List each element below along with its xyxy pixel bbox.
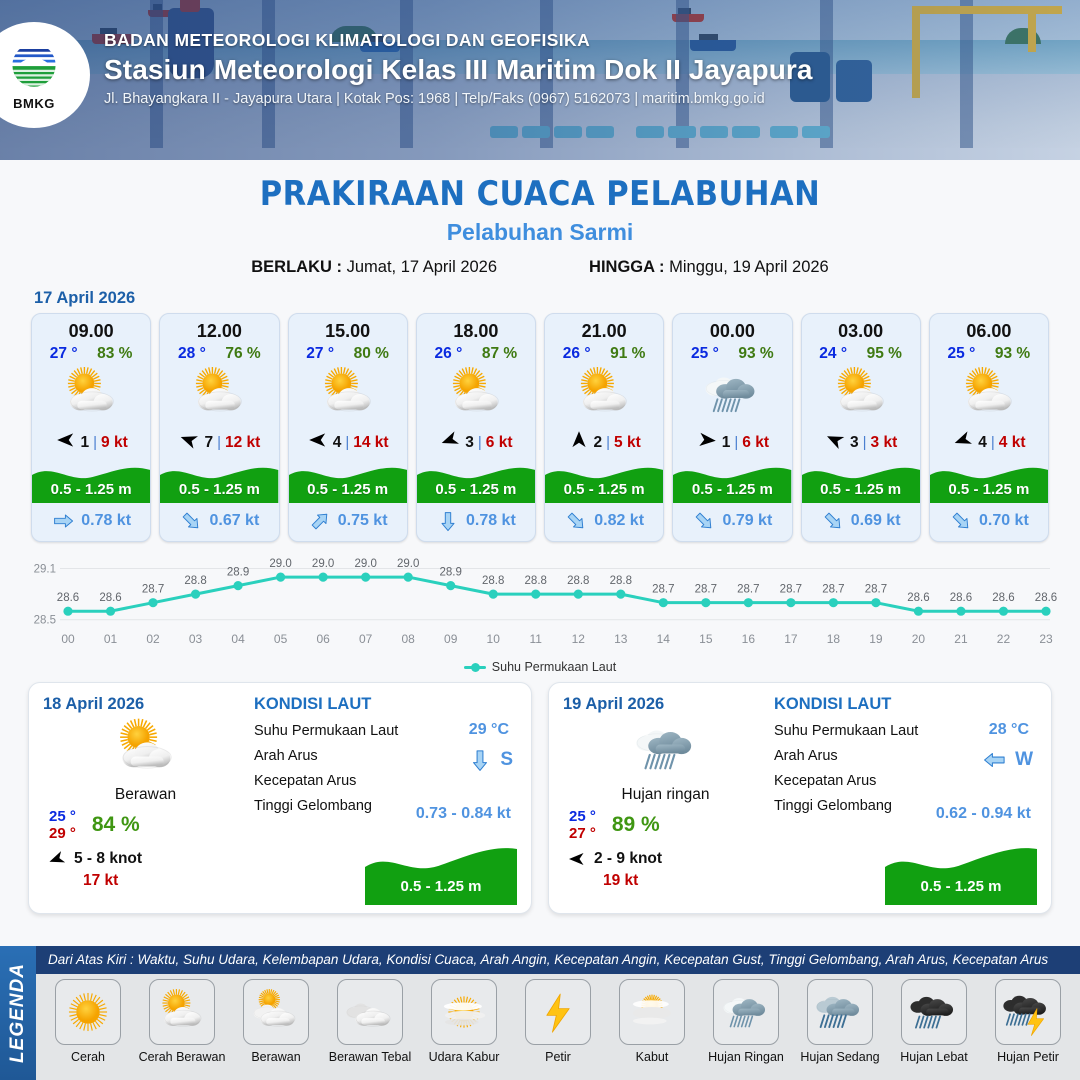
hujan-sedang-icon [812, 984, 868, 1040]
wind-direction-icon [949, 426, 977, 454]
legend-item: Hujan Petir [984, 979, 1072, 1064]
legend-item-label: Hujan Petir [997, 1050, 1059, 1064]
legend-item: Hujan Ringan [702, 979, 790, 1064]
cerah-berawan-icon [154, 984, 210, 1040]
svg-text:28.6: 28.6 [1035, 592, 1057, 604]
wave-height-band: 0.5 - 1.25 m [417, 461, 535, 503]
valid-from-label: BERLAKU : [251, 258, 342, 276]
cerah-berawan-icon [443, 361, 509, 427]
page-title: PRAKIRAAN CUACA PELABUHAN [0, 174, 1080, 214]
svg-text:29.1: 29.1 [34, 564, 56, 576]
current-speed: 0.78 kt [466, 512, 516, 530]
forecast-time: 03.00 [802, 314, 920, 342]
wind-direction-value: 1 [81, 434, 90, 452]
wind-separator: | [734, 434, 738, 451]
current-speed: 0.67 kt [209, 512, 259, 530]
svg-text:11: 11 [530, 632, 543, 646]
wave-height-value: 0.5 - 1.25 m [417, 481, 535, 498]
cerah-berawan-icon [109, 712, 183, 786]
weather-icon-wrap [32, 363, 150, 425]
svg-text:28.6: 28.6 [992, 592, 1014, 604]
svg-text:28.8: 28.8 [610, 575, 632, 587]
valid-from-value: Jumat, 17 April 2026 [347, 258, 497, 276]
legend-item-label: Berawan [251, 1050, 300, 1064]
current-speed-value: 0.62 - 0.94 kt [936, 805, 1031, 823]
wind-direction-value: 7 [204, 434, 213, 452]
daily-wave-shape [365, 843, 517, 905]
hourly-forecast-card: 15.00 27 ° 80 % 4 | 14 kt [288, 313, 408, 542]
legend-marker-icon [464, 666, 486, 669]
legend-item-label: Cerah Berawan [139, 1050, 226, 1064]
current-direction-icon [816, 504, 850, 538]
daily-gust: 19 kt [563, 872, 768, 890]
current-direction-icon [51, 509, 75, 533]
svg-text:01: 01 [104, 632, 118, 646]
svg-text:19: 19 [869, 632, 883, 646]
berawan-icon [248, 984, 304, 1040]
legend-icon-box [807, 979, 873, 1045]
current-speed-label: Kecepatan Arus [774, 773, 1037, 789]
svg-text:29.0: 29.0 [312, 558, 334, 570]
legend-item: Udara Kabur [420, 979, 508, 1064]
daily-wave-band: 0.5 - 1.25 m [885, 843, 1037, 905]
wind-direction-icon [567, 849, 587, 869]
bmkg-logo-text: BMKG [13, 96, 55, 111]
hourly-forecast-card: 00.00 25 ° 93 % [672, 313, 792, 542]
svg-text:18: 18 [827, 632, 841, 646]
hourly-forecast-card: 09.00 27 ° 83 % 1 | 9 kt [31, 313, 151, 542]
cerah-berawan-icon [186, 361, 252, 427]
legend-icon-box [149, 979, 215, 1045]
kabut-icon [624, 984, 680, 1040]
legend-icon-box [901, 979, 967, 1045]
daily-temp-max: 29 ° [49, 825, 76, 842]
legend-item-label: Hujan Lebat [900, 1050, 967, 1064]
wind-speed: 5 kt [614, 434, 641, 452]
legend-items-row: Cerah Cerah Berawan [36, 974, 1080, 1080]
hujan-ringan-icon [629, 712, 703, 786]
legend-item: Kabut [608, 979, 696, 1064]
wind-separator: | [217, 434, 221, 451]
cerah-icon [60, 984, 116, 1040]
svg-text:16: 16 [742, 632, 756, 646]
hourly-forecast-card: 21.00 26 ° 91 % 2 | 5 kt [544, 313, 664, 542]
svg-text:14: 14 [657, 632, 671, 646]
current-speed: 0.79 kt [722, 512, 772, 530]
svg-text:07: 07 [359, 632, 373, 646]
legend-icon-box [713, 979, 779, 1045]
bmkg-logo-mark [7, 39, 61, 95]
daily-wave-shape [885, 843, 1037, 905]
wind-direction-icon [175, 426, 203, 454]
svg-text:28.8: 28.8 [184, 575, 206, 587]
svg-text:28.5: 28.5 [34, 615, 56, 627]
legend-icon-box [337, 979, 403, 1045]
svg-text:28.7: 28.7 [822, 584, 844, 596]
legend-item: Berawan Tebal [326, 979, 414, 1064]
wave-height-value: 0.5 - 1.25 m [802, 481, 920, 498]
wind-speed: 9 kt [101, 434, 128, 452]
current-direction-icon [303, 504, 337, 538]
svg-text:28.6: 28.6 [950, 592, 972, 604]
current-direction-icon [467, 747, 493, 773]
wind-speed: 6 kt [742, 434, 769, 452]
svg-text:21: 21 [954, 632, 968, 646]
wind-speed: 3 kt [871, 434, 898, 452]
legend-section: LEGENDA Dari Atas Kiri : Waktu, Suhu Uda… [0, 946, 1080, 1080]
sst-value: 28 °C [989, 721, 1029, 739]
weather-icon-wrap [802, 363, 920, 425]
legend-item-label: Cerah [71, 1050, 105, 1064]
wind-speed: 12 kt [225, 434, 260, 452]
sst-chart-svg: 29.128.528.60028.60128.70228.80328.90429… [20, 552, 1060, 662]
daily-forecast-panel: 19 April 2026 Hujan ringan [548, 682, 1052, 914]
legend-icon-box [55, 979, 121, 1045]
cerah-berawan-icon [828, 361, 894, 427]
svg-text:29.0: 29.0 [397, 558, 419, 570]
wave-height-value: 0.5 - 1.25 m [289, 481, 407, 498]
wind-direction-value: 2 [594, 434, 603, 452]
page-header: BMKG BADAN METEOROLOGI KLIMATOLOGI DAN G… [0, 0, 1080, 160]
svg-text:28.7: 28.7 [652, 584, 674, 596]
wind-separator: | [93, 434, 97, 451]
station-name: Stasiun Meteorologi Kelas III Maritim Do… [104, 54, 813, 86]
current-direction-icon [174, 504, 208, 538]
svg-text:28.8: 28.8 [567, 575, 589, 587]
hujan-ringan-icon [718, 984, 774, 1040]
weather-icon-wrap [545, 363, 663, 425]
legend-item-label: Berawan Tebal [329, 1050, 411, 1064]
wind-direction-icon [568, 429, 590, 451]
cerah-berawan-icon [956, 361, 1022, 427]
legend-side-label: LEGENDA [7, 963, 29, 1063]
daily-gust: 17 kt [43, 872, 248, 890]
sst-chart: 29.128.528.60028.60128.70228.80328.90429… [20, 552, 1060, 664]
svg-text:03: 03 [189, 632, 203, 646]
port-name: Pelabuhan Sarmi [0, 219, 1080, 246]
cerah-berawan-icon [571, 361, 637, 427]
svg-text:12: 12 [572, 632, 586, 646]
wave-height-band: 0.5 - 1.25 m [160, 461, 278, 503]
hourly-date-label: 17 April 2026 [34, 289, 1080, 308]
legend-icon-box [619, 979, 685, 1045]
svg-text:28.6: 28.6 [99, 592, 121, 604]
wind-speed: 14 kt [353, 434, 388, 452]
current-speed: 0.69 kt [851, 512, 901, 530]
svg-text:28.7: 28.7 [737, 584, 759, 596]
legend-item-label: Udara Kabur [429, 1050, 500, 1064]
daily-weather-icon-wrap [43, 718, 248, 780]
wind-direction-icon [436, 426, 464, 454]
wave-height-band: 0.5 - 1.25 m [930, 461, 1048, 503]
svg-text:15: 15 [699, 632, 713, 646]
daily-condition: Hujan ringan [563, 786, 768, 804]
daily-condition: Berawan [43, 786, 248, 804]
wave-height-value: 0.5 - 1.25 m [32, 481, 150, 498]
wave-height-band: 0.5 - 1.25 m [32, 461, 150, 503]
sea-condition-title: KONDISI LAUT [774, 695, 1037, 714]
svg-text:28.7: 28.7 [780, 584, 802, 596]
hourly-forecast-card: 18.00 26 ° 87 % 3 | 6 kt [416, 313, 536, 542]
svg-text:00: 00 [61, 632, 75, 646]
legend-item-label: Petir [545, 1050, 571, 1064]
svg-text:28.8: 28.8 [482, 575, 504, 587]
current-speed: 0.82 kt [594, 512, 644, 530]
wave-height-value: 0.5 - 1.25 m [545, 481, 663, 498]
valid-to-label: HINGGA : [589, 258, 664, 276]
legend-item: Petir [514, 979, 602, 1064]
legend-item: Hujan Lebat [890, 979, 978, 1064]
wind-direction-value: 3 [465, 434, 474, 452]
svg-text:10: 10 [487, 632, 501, 646]
svg-text:02: 02 [146, 632, 160, 646]
weather-icon-wrap [417, 363, 535, 425]
wave-height-value: 0.5 - 1.25 m [930, 481, 1048, 498]
legend-icon-box [525, 979, 591, 1045]
hujan-petir-icon [1000, 984, 1056, 1040]
current-speed: 0.78 kt [81, 512, 131, 530]
wind-separator: | [478, 434, 482, 451]
weather-icon-wrap [160, 363, 278, 425]
legend-caption: Dari Atas Kiri : Waktu, Suhu Udara, Kele… [36, 946, 1080, 974]
daily-wave-band: 0.5 - 1.25 m [365, 843, 517, 905]
legend-icon-box [431, 979, 497, 1045]
title-section: PRAKIRAAN CUACA PELABUHAN Pelabuhan Sarm… [0, 160, 1080, 277]
legend-item: Cerah [44, 979, 132, 1064]
svg-text:28.8: 28.8 [525, 575, 547, 587]
legend-icon-box [995, 979, 1061, 1045]
wind-direction-icon [44, 846, 70, 872]
svg-text:13: 13 [614, 632, 628, 646]
daily-forecast-panel: 18 April 2026 Berawan 25 ° 29 ° [28, 682, 532, 914]
sea-condition-title: KONDISI LAUT [254, 695, 517, 714]
daily-weather-icon-wrap [563, 718, 768, 780]
wind-direction-value: 3 [850, 434, 859, 452]
svg-text:28.6: 28.6 [907, 592, 929, 604]
wave-height-value: 0.5 - 1.25 m [673, 481, 791, 498]
current-direction-icon [436, 509, 460, 533]
validity-row: BERLAKU : Jumat, 17 April 2026 HINGGA : … [0, 258, 1080, 277]
forecast-time: 06.00 [930, 314, 1048, 342]
wind-direction-value: 4 [333, 434, 342, 452]
svg-text:20: 20 [912, 632, 926, 646]
berawan-tebal-icon [342, 984, 398, 1040]
current-direction-value: W [1015, 749, 1033, 771]
wind-direction-icon [820, 425, 849, 454]
current-direction-icon [687, 504, 721, 538]
daily-wave-value: 0.5 - 1.25 m [365, 878, 517, 895]
valid-from: BERLAKU : Jumat, 17 April 2026 [251, 258, 497, 277]
wind-speed: 4 kt [999, 434, 1026, 452]
wind-direction-value: 4 [978, 434, 987, 452]
sst-value: 29 °C [469, 721, 509, 739]
hujan-ringan-icon [699, 361, 765, 427]
current-speed: 0.75 kt [338, 512, 388, 530]
wave-height-band: 0.5 - 1.25 m [545, 461, 663, 503]
svg-text:28.9: 28.9 [227, 567, 249, 579]
wind-separator: | [345, 434, 349, 451]
svg-text:28.9: 28.9 [440, 567, 462, 579]
hujan-lebat-icon [906, 984, 962, 1040]
svg-text:28.7: 28.7 [865, 584, 887, 596]
forecast-time: 18.00 [417, 314, 535, 342]
svg-text:29.0: 29.0 [354, 558, 376, 570]
daily-wind-range: 2 - 9 knot [594, 850, 662, 868]
weather-icon-wrap [930, 363, 1048, 425]
svg-text:06: 06 [316, 632, 330, 646]
legend-item: Hujan Sedang [796, 979, 884, 1064]
wind-direction-icon [695, 428, 719, 452]
weather-icon-wrap [673, 363, 791, 425]
daily-temp-max: 27 ° [569, 825, 596, 842]
legend-item: Berawan [232, 979, 320, 1064]
wave-height-band: 0.5 - 1.25 m [289, 461, 407, 503]
udara-kabur-icon [436, 984, 492, 1040]
wind-direction-icon [307, 429, 329, 451]
current-speed: 0.70 kt [979, 512, 1029, 530]
svg-text:05: 05 [274, 632, 288, 646]
wind-direction-value: 1 [722, 434, 731, 452]
forecast-time: 09.00 [32, 314, 150, 342]
legend-item-label: Kabut [636, 1050, 669, 1064]
daily-humidity: 89 % [612, 813, 660, 837]
valid-to: HINGGA : Minggu, 19 April 2026 [589, 258, 829, 277]
current-speed-value: 0.73 - 0.84 kt [416, 805, 511, 823]
wave-height-band: 0.5 - 1.25 m [673, 461, 791, 503]
valid-to-value: Minggu, 19 April 2026 [669, 258, 829, 276]
wind-separator: | [606, 434, 610, 451]
agency-name: BADAN METEOROLOGI KLIMATOLOGI DAN GEOFIS… [104, 30, 813, 51]
current-direction-value: S [500, 749, 513, 771]
daily-wind-range: 5 - 8 knot [74, 850, 142, 868]
svg-text:17: 17 [784, 632, 798, 646]
current-direction-icon [982, 747, 1008, 773]
daily-forecast-row: 18 April 2026 Berawan 25 ° 29 ° [0, 674, 1080, 914]
legend-side-banner: LEGENDA [0, 946, 36, 1080]
svg-text:09: 09 [444, 632, 458, 646]
hourly-forecast-card: 12.00 28 ° 76 % 7 | 12 kt [159, 313, 279, 542]
svg-text:22: 22 [997, 632, 1011, 646]
svg-text:08: 08 [401, 632, 415, 646]
contact-info: Jl. Bhayangkara II - Jayapura Utara | Ko… [104, 91, 813, 107]
daily-temp-min: 25 ° [49, 808, 76, 825]
svg-text:28.6: 28.6 [57, 592, 79, 604]
svg-text:28.7: 28.7 [695, 584, 717, 596]
wave-height-value: 0.5 - 1.25 m [160, 481, 278, 498]
legend-item-label: Hujan Ringan [708, 1050, 784, 1064]
wind-speed: 6 kt [486, 434, 513, 452]
daily-temp-min: 25 ° [569, 808, 596, 825]
forecast-time: 21.00 [545, 314, 663, 342]
current-direction-icon [559, 504, 593, 538]
current-speed-label: Kecepatan Arus [254, 773, 517, 789]
cerah-berawan-icon [315, 361, 381, 427]
current-direction-icon [944, 504, 978, 538]
hourly-forecast-row: 09.00 27 ° 83 % 1 | 9 kt [0, 313, 1080, 542]
hourly-forecast-card: 06.00 25 ° 93 % 4 | 4 kt [929, 313, 1049, 542]
wind-separator: | [991, 434, 995, 451]
wind-separator: | [863, 434, 867, 451]
svg-text:28.7: 28.7 [142, 584, 164, 596]
forecast-time: 00.00 [673, 314, 791, 342]
legend-item-label: Hujan Sedang [800, 1050, 879, 1064]
forecast-time: 15.00 [289, 314, 407, 342]
daily-wave-value: 0.5 - 1.25 m [885, 878, 1037, 895]
wave-height-band: 0.5 - 1.25 m [802, 461, 920, 503]
hourly-forecast-card: 03.00 24 ° 95 % 3 | 3 kt [801, 313, 921, 542]
wind-direction-icon [55, 429, 77, 451]
svg-text:23: 23 [1039, 632, 1053, 646]
svg-text:29.0: 29.0 [269, 558, 291, 570]
petir-icon [530, 984, 586, 1040]
daily-humidity: 84 % [92, 813, 140, 837]
legend-item: Cerah Berawan [138, 979, 226, 1064]
weather-icon-wrap [289, 363, 407, 425]
legend-icon-box [243, 979, 309, 1045]
svg-text:04: 04 [231, 632, 245, 646]
forecast-time: 12.00 [160, 314, 278, 342]
cerah-berawan-icon [58, 361, 124, 427]
